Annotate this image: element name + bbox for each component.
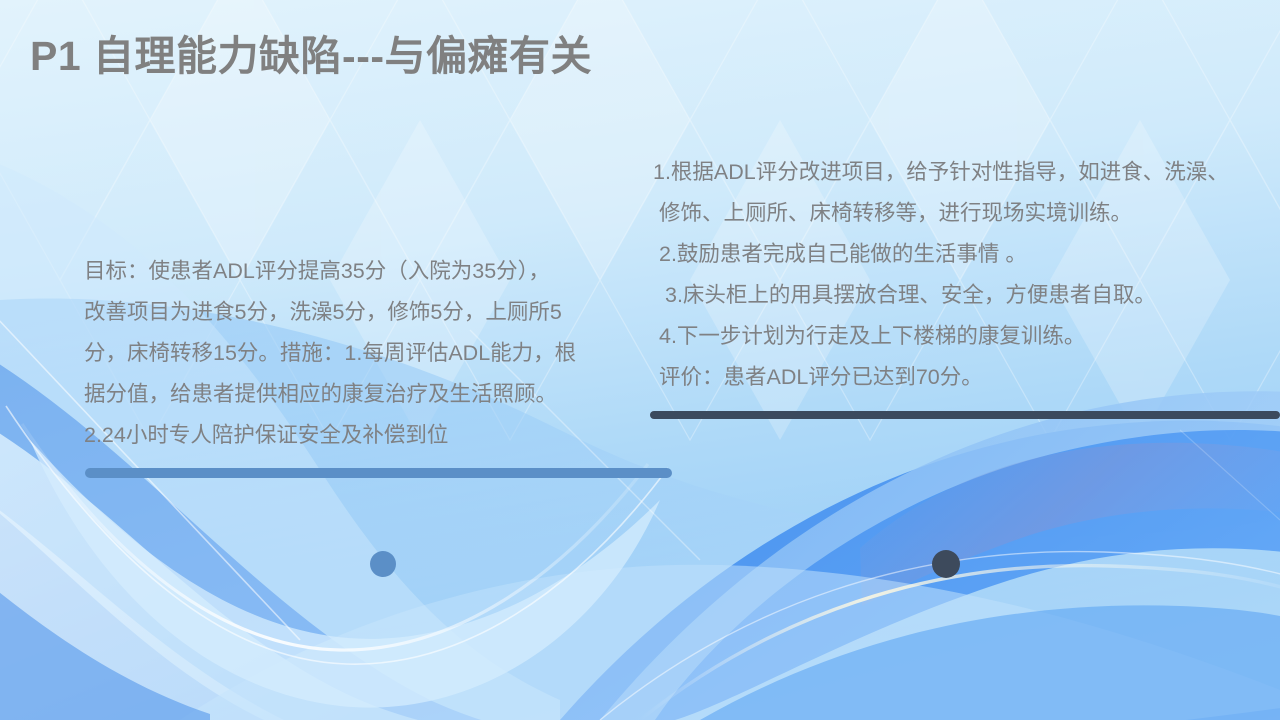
right-text-line: 2.鼓励患者完成自己能做的生活事情 。 [653,234,1280,275]
right-text-line: 1.根据ADL评分改进项目，给予针对性指导，如进食、洗澡、 [653,152,1280,193]
right-text-line: 3.床头柜上的用具摆放合理、安全，方便患者自取。 [653,275,1280,316]
right-divider-bar [650,411,1280,419]
left-divider-bar [85,468,672,478]
page-title: P1 自理能力缺陷---与偏瘫有关 [30,32,592,81]
left-text-line: 改善项目为进食5分，洗澡5分，修饰5分，上厕所5 [84,292,684,333]
left-decorative-dot [370,551,396,577]
left-text-line: 据分值，给患者提供相应的康复治疗及生活照顾。 [84,374,684,415]
left-text-line: 目标：使患者ADL评分提高35分（入院为35分）， [84,251,684,292]
left-text-line: 2.24小时专人陪护保证安全及补偿到位 [84,415,684,456]
right-decorative-dot [932,550,960,578]
right-text-line: 4.下一步计划为行走及上下楼梯的康复训练。 [653,316,1280,357]
left-text-block: 目标：使患者ADL评分提高35分（入院为35分）， 改善项目为进食5分，洗澡5分… [84,251,684,456]
right-text-block: 1.根据ADL评分改进项目，给予针对性指导，如进食、洗澡、 修饰、上厕所、床椅转… [653,152,1280,398]
right-text-line: 修饰、上厕所、床椅转移等，进行现场实境训练。 [653,193,1280,234]
slide-canvas: P1 自理能力缺陷---与偏瘫有关 目标：使患者ADL评分提高35分（入院为35… [0,0,1280,720]
right-text-line: 评价：患者ADL评分已达到70分。 [653,357,1280,398]
left-text-line: 分，床椅转移15分。措施：1.每周评估ADL能力，根 [84,333,684,374]
